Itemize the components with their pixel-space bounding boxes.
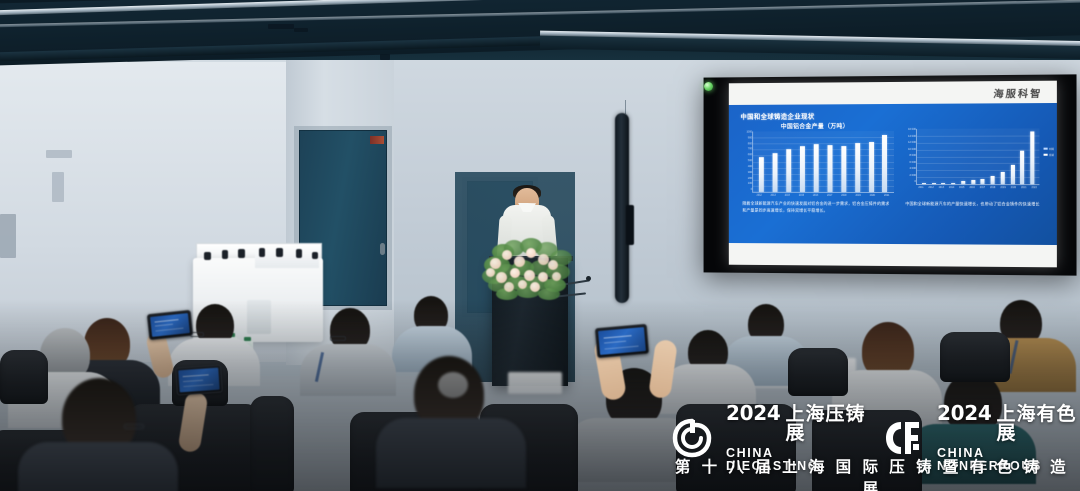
y-tick-label: 400 — [748, 166, 752, 169]
speaker-suspension-wire — [625, 100, 626, 114]
y-tick-label: 10 000 — [908, 149, 916, 152]
y-tick-label: 4 000 — [909, 168, 916, 171]
chair — [940, 332, 1010, 382]
flower-bloom — [502, 250, 512, 260]
cart-object — [276, 248, 283, 257]
legend-entry: 全球 — [1043, 153, 1054, 157]
x-axis-left: 2012201320142015201620172018201920202021 — [752, 194, 894, 197]
chart-china-aluminium-output: 中国铝合金产量（万吨） 1000900800700600500400300200… — [737, 121, 894, 197]
slide-notes: 随着全球新能源汽车产业的快速发展对铝合金的进一步需求，铝合金压铸件的需求和产量是… — [737, 201, 1049, 216]
plot-area-right: 16 00014 00012 00010 0008 0006 0004 0002… — [916, 128, 1039, 185]
x-tick-label: 2013 — [771, 194, 776, 197]
y-tick-label: 600 — [748, 155, 752, 158]
flower-bloom — [514, 256, 525, 267]
slide-logo-watermark: 海服科智 — [993, 84, 1044, 100]
x-tick-label: 2015 — [799, 194, 804, 197]
cart-object — [222, 250, 228, 259]
slide-body: 中国和全球铸造企业现状 中国铝合金产量（万吨） 1000900800700600… — [729, 103, 1057, 245]
flower-bloom — [538, 272, 548, 282]
bar — [971, 180, 975, 185]
wall-fixture — [46, 150, 72, 158]
legend-swatch — [1043, 153, 1047, 156]
bar — [759, 157, 764, 192]
attendee-shoulders-foreground — [376, 418, 526, 488]
y-tick-label: 1000 — [747, 132, 753, 135]
ceiling-vent — [294, 28, 308, 32]
cart-object — [204, 252, 211, 260]
chair — [812, 410, 922, 491]
bar — [827, 145, 832, 192]
x-axis-right: 2011201220132014201520162017201820192020… — [916, 186, 1039, 189]
attendee-shoulders — [906, 424, 1036, 484]
chart-legend-right: 中国全球 — [1043, 147, 1054, 157]
flower-bloom — [524, 270, 535, 281]
bar — [941, 183, 945, 184]
x-tick-label: 2014 — [785, 194, 790, 197]
flower-bloom — [510, 268, 520, 278]
y-tick-label: 6 000 — [909, 162, 916, 165]
y-tick-label: 0 — [915, 181, 916, 184]
flower-bloom — [486, 268, 495, 277]
bar — [981, 179, 985, 184]
podium-flower-arrangement — [482, 238, 574, 298]
chart-title-right — [898, 120, 1039, 128]
y-tick-label: 800 — [748, 143, 752, 146]
foliage — [538, 288, 560, 300]
side-table — [508, 372, 562, 394]
legend-label: 中国 — [1049, 147, 1054, 151]
x-tick-label: 2016 — [969, 186, 974, 189]
slide-footer — [729, 243, 1057, 267]
bar — [951, 183, 955, 184]
cart-object — [238, 249, 245, 258]
bar — [1011, 165, 1015, 184]
cart-object — [296, 249, 302, 258]
y-tick-label: 700 — [748, 149, 752, 152]
x-tick-label: 2021 — [1021, 186, 1026, 189]
bar — [882, 135, 887, 192]
flower-bloom — [526, 248, 536, 258]
y-tick-label: 14 000 — [908, 135, 916, 138]
y-tick-label: 0 — [751, 189, 752, 192]
smartphone-screen — [598, 327, 646, 355]
cart-object — [312, 252, 318, 259]
slide-note-left: 随着全球新能源汽车产业的快速发展对铝合金的进一步需求，铝合金压铸件的需求和产量是… — [737, 201, 891, 215]
y-axis-right: 16 00014 00012 00010 0008 0006 0004 0002… — [898, 129, 916, 184]
y-tick-label: 200 — [748, 178, 752, 181]
x-tick-label: 2018 — [990, 186, 995, 189]
smartphone-screen — [150, 313, 190, 337]
door-sign — [370, 136, 384, 144]
slide-title: 中国和全球铸造企业现状 — [740, 109, 1048, 121]
wall-fixture — [52, 172, 64, 202]
presentation-photo-scene: 海服科智 中国和全球铸造企业现状 中国铝合金产量（万吨） 10009008007… — [0, 0, 1080, 491]
x-tick-label: 2011 — [918, 186, 923, 189]
power-led-icon — [704, 82, 713, 91]
door-handle-icon[interactable] — [380, 243, 385, 255]
bar — [786, 150, 791, 192]
flower-bloom — [548, 260, 558, 270]
bar — [841, 146, 846, 192]
x-tick-label: 2020 — [1011, 186, 1016, 189]
slide-note-right: 中国和全球新能源汽车的产量快速增长，也带动了铝合金铸件的快速增长 — [896, 201, 1048, 215]
x-tick-label: 2016 — [813, 194, 818, 197]
flower-bloom — [552, 272, 561, 281]
hair-clip — [438, 372, 468, 398]
x-tick-label: 2018 — [841, 194, 846, 197]
x-tick-label: 2019 — [855, 194, 860, 197]
attendee-shoulders-foreground — [18, 442, 178, 491]
bar — [1030, 132, 1034, 184]
ceiling-fixture — [380, 54, 390, 60]
y-tick-label: 100 — [748, 183, 752, 186]
y-tick-label: 2 000 — [909, 175, 916, 178]
y-tick-label: 300 — [748, 172, 752, 175]
flower-bloom — [504, 282, 514, 292]
plot-area-left: 10009008007006005004003002001000 — [752, 131, 894, 193]
y-axis-left: 10009008007006005004003002001000 — [737, 132, 753, 192]
bottle-cap — [244, 337, 251, 341]
x-tick-label: 2017 — [827, 194, 832, 197]
bar — [855, 143, 860, 192]
flower-bloom — [496, 272, 507, 283]
wall-fixture — [0, 214, 16, 258]
smartphone-screen — [178, 368, 219, 393]
legend-label: 全球 — [1049, 153, 1054, 157]
bar — [991, 176, 995, 184]
chart-title-left: 中国铝合金产量（万吨） — [737, 121, 894, 131]
bar — [922, 183, 926, 184]
x-tick-label: 2017 — [980, 186, 985, 189]
cart-object — [259, 248, 265, 257]
x-tick-label: 2022 — [1031, 186, 1036, 189]
eyeglasses — [124, 424, 144, 429]
chair — [250, 396, 294, 491]
chair — [676, 404, 796, 491]
bar — [932, 183, 936, 184]
y-tick-label: 900 — [748, 137, 752, 140]
y-tick-label: 500 — [748, 160, 752, 163]
microphone-head-icon — [586, 276, 591, 281]
y-tick-label: 16 000 — [908, 129, 916, 132]
bar — [1001, 172, 1005, 184]
x-tick-label: 2021 — [884, 194, 889, 197]
x-tick-label: 2013 — [939, 186, 944, 189]
bar — [961, 181, 965, 184]
smartphone[interactable] — [595, 324, 649, 358]
legend-entry: 中国 — [1043, 147, 1054, 151]
x-tick-label: 2019 — [1000, 186, 1005, 189]
chart-global-nev-output: 16 00014 00012 00010 0008 0006 0004 0002… — [898, 120, 1039, 197]
bar — [814, 145, 819, 192]
bar-series-left — [753, 131, 894, 192]
flower-bloom — [518, 280, 527, 289]
smartphone[interactable] — [175, 364, 223, 395]
chair — [0, 350, 48, 404]
x-tick-label: 2014 — [949, 186, 954, 189]
equipment-cart-slot — [247, 300, 271, 334]
y-tick-label: 8 000 — [909, 155, 916, 158]
bar — [773, 153, 778, 192]
chair — [788, 348, 848, 396]
bar — [800, 146, 805, 192]
slide-header: 海服科智 — [729, 81, 1057, 105]
attendee-shoulders — [300, 344, 396, 396]
hanging-speaker-bracket — [626, 205, 634, 245]
bar — [869, 142, 874, 192]
ceiling-vent — [268, 24, 294, 29]
bar-series-right — [917, 128, 1039, 184]
eyeglasses — [330, 336, 346, 341]
y-tick-label: 12 000 — [908, 142, 916, 145]
charts-row: 中国铝合金产量（万吨） 1000900800700600500400300200… — [737, 120, 1049, 197]
smartphone[interactable] — [147, 310, 193, 340]
x-tick-label: 2012 — [928, 186, 933, 189]
x-tick-label: 2012 — [757, 194, 762, 197]
flower-bloom — [530, 282, 540, 292]
x-tick-label: 2020 — [870, 194, 875, 197]
legend-swatch — [1043, 147, 1047, 150]
x-tick-label: 2015 — [959, 186, 964, 189]
bar — [1020, 151, 1024, 184]
presentation-slide[interactable]: 海服科智 中国和全球铸造企业现状 中国铝合金产量（万吨） 10009008007… — [729, 81, 1057, 268]
